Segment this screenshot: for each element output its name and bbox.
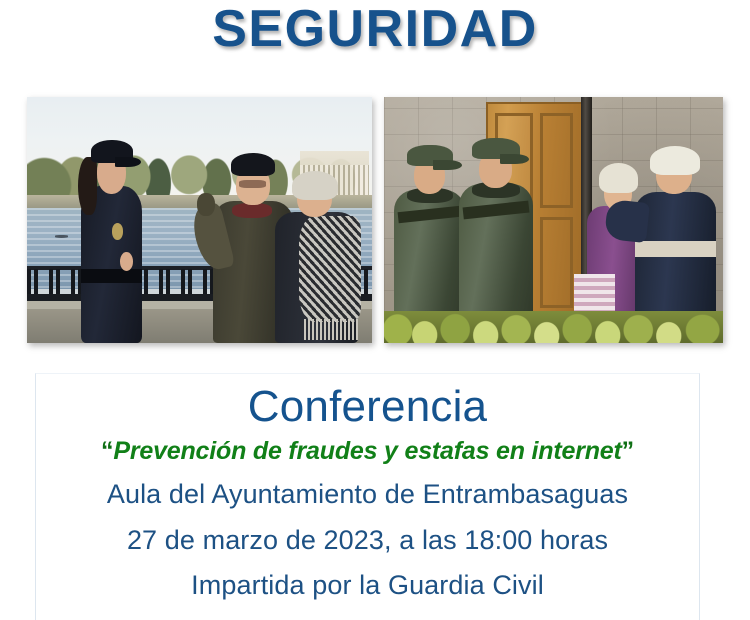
scene-park-lake — [27, 97, 372, 343]
hedge-foliage — [384, 311, 723, 343]
opening-quote: “ — [101, 437, 113, 465]
title-area: SEGURIDAD — [0, 2, 750, 57]
photo-row — [27, 97, 723, 343]
guardia-civil-officer-1 — [394, 141, 465, 328]
elderly-man — [635, 146, 716, 328]
guardia-civil-officer-2 — [459, 134, 534, 328]
elderly-woman — [275, 171, 358, 343]
officer-hands — [120, 252, 133, 271]
officer-cap — [91, 140, 133, 163]
details-panel: Conferencia “Prevención de fraudes y est… — [35, 373, 700, 620]
venue-line: Aula del Ayuntamiento de Entrambasaguas — [36, 478, 699, 510]
officer-cap — [407, 145, 453, 166]
photo-policewoman-with-elderly-couple — [27, 97, 372, 343]
officer-ponytail — [78, 157, 97, 215]
officer-duty-belt — [81, 269, 142, 283]
mans-hat — [231, 153, 275, 176]
jacket-stripe — [635, 241, 716, 257]
door-panel — [540, 113, 572, 209]
boat — [55, 235, 69, 237]
womans-hair — [599, 163, 638, 193]
poster-canvas: SEGURIDAD — [0, 0, 750, 620]
mans-scarf — [232, 203, 272, 218]
event-type-heading: Conferencia — [36, 382, 699, 431]
mans-glasses — [239, 180, 266, 188]
closing-quote: ” — [622, 437, 634, 465]
police-officer — [75, 136, 147, 343]
event-subtitle-text: Prevención de fraudes y estafas en inter… — [113, 437, 621, 465]
photo-guardia-civil-with-elderly-couple — [384, 97, 723, 343]
scene-stone-building — [384, 97, 723, 343]
event-subtitle: “Prevención de fraudes y estafas en inte… — [36, 436, 699, 466]
mans-white-hair — [650, 146, 700, 175]
officer-badge — [112, 223, 124, 240]
door-panel — [540, 217, 572, 308]
poster-title: SEGURIDAD — [212, 2, 538, 57]
womans-houndstooth-scarf — [299, 216, 362, 323]
womans-hair — [292, 171, 338, 200]
datetime-line: 27 de marzo de 2023, a las 18:00 horas — [36, 524, 699, 556]
mans-gloved-hand — [197, 193, 214, 216]
scarf-fringe — [304, 319, 359, 340]
presenter-line: Impartida por la Guardia Civil — [36, 569, 699, 601]
officer-cap — [472, 138, 520, 159]
